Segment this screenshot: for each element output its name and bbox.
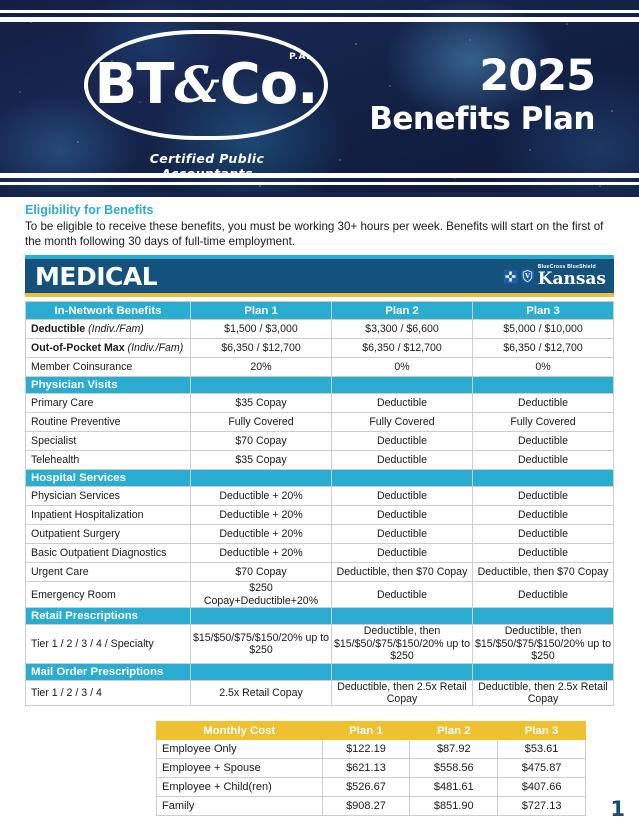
table-row: Inpatient HospitalizationDeductible + 20… (26, 506, 614, 525)
carrier-logo-text: BlueCross BlueShield Kansas (538, 265, 606, 287)
table-row: Employee + Spouse$621.13$558.56$475.87 (157, 759, 586, 778)
benefit-value-cell-plan-3: $6,350 / $12,700 (473, 339, 614, 358)
header-banner: BT&Co. P.A. Certified Public Accountants… (0, 0, 639, 197)
benefit-value-cell-plan-2: $6,350 / $12,700 (332, 339, 473, 358)
table-row: Out-of-Pocket Max (Indiv./Fam)$6,350 / $… (26, 339, 614, 358)
benefit-label-cell: Telehealth (26, 451, 191, 470)
cost-label-cell: Family (157, 797, 323, 816)
table-row: Employee Only$122.19$87.92$53.61 (157, 740, 586, 759)
cost-value-cell-plan-1: $122.19 (322, 740, 410, 759)
benefit-value-cell-plan-1: $6,350 / $12,700 (191, 339, 332, 358)
benefit-value-cell-plan-3: Deductible (473, 544, 614, 563)
eligibility-text: To be eligible to receive these benefits… (25, 219, 614, 250)
table-row: Emergency Room$250 Copay+Deductible+20%D… (26, 582, 614, 608)
benefits-group-row: Hospital Services (26, 470, 614, 487)
benefit-label-cell: Routine Preventive (26, 413, 191, 432)
table-row: Routine PreventiveFully CoveredFully Cov… (26, 413, 614, 432)
blue-shield-icon: V (521, 268, 534, 284)
benefit-value-cell-plan-2: Fully Covered (332, 413, 473, 432)
benefit-value-cell-plan-2: Deductible (332, 506, 473, 525)
blue-cross-icon (503, 269, 518, 284)
mc-col-header-plan-2: Plan 2 (410, 722, 498, 740)
table-row: Basic Outpatient DiagnosticsDeductible +… (26, 544, 614, 563)
benefit-value-cell-plan-3: Deductible (473, 487, 614, 506)
svg-text:V: V (524, 272, 531, 280)
benefit-value-cell-plan-3: Deductible (473, 525, 614, 544)
benefit-value-cell-plan-1: $35 Copay (191, 394, 332, 413)
cost-value-cell-plan-3: $475.87 (498, 759, 586, 778)
logo-wordmark: BT&Co. (84, 30, 328, 140)
benefit-value-cell-plan-1: 20% (191, 358, 332, 377)
cost-value-cell-plan-1: $621.13 (322, 759, 410, 778)
benefit-label-cell: Inpatient Hospitalization (26, 506, 191, 525)
benefit-value-cell-plan-1: Fully Covered (191, 413, 332, 432)
benefit-value-cell-plan-3: Deductible (473, 582, 614, 608)
logo-bt: BT (95, 57, 174, 113)
benefit-label-cell: Urgent Care (26, 563, 191, 582)
benefit-label-cell: Specialist (26, 432, 191, 451)
benefit-label-cell: Tier 1 / 2 / 3 / 4 / Specialty (26, 625, 191, 664)
page-number: 1 (610, 797, 625, 821)
cost-label-cell: Employee + Spouse (157, 759, 323, 778)
banner-stripe-bottom-2 (0, 182, 639, 185)
benefit-label-cell: Member Coinsurance (26, 358, 191, 377)
benefits-group-blank-cell (473, 663, 614, 680)
benefit-label-cell: Outpatient Surgery (26, 525, 191, 544)
benefits-group-blank-cell (191, 470, 332, 487)
benefits-group-blank-cell (191, 663, 332, 680)
benefits-group-row: Retail Prescriptions (26, 608, 614, 625)
benefit-value-cell-plan-1: Deductible + 20% (191, 525, 332, 544)
cost-value-cell-plan-1: $908.27 (322, 797, 410, 816)
cost-value-cell-plan-2: $481.61 (410, 778, 498, 797)
col-header-benefits: In-Network Benefits (26, 302, 191, 320)
benefits-group-label: Retail Prescriptions (26, 608, 191, 625)
benefit-value-cell-plan-1: Deductible + 20% (191, 544, 332, 563)
section-title: MEDICAL (35, 262, 157, 291)
cost-label-cell: Employee Only (157, 740, 323, 759)
eligibility-heading: Eligibility for Benefits (25, 203, 614, 217)
table-row: Primary Care$35 CopayDeductibleDeductibl… (26, 394, 614, 413)
cost-value-cell-plan-3: $727.13 (498, 797, 586, 816)
table-row: Urgent Care$70 CopayDeductible, then $70… (26, 563, 614, 582)
benefit-label-cell: Out-of-Pocket Max (Indiv./Fam) (26, 339, 191, 358)
col-header-plan-2: Plan 2 (332, 302, 473, 320)
company-logo: BT&Co. P.A. (84, 30, 328, 140)
benefit-value-cell-plan-3: Deductible, then 2.5x Retail Copay (473, 680, 614, 705)
cost-label-cell: Employee + Child(ren) (157, 778, 323, 797)
cost-value-cell-plan-2: $87.92 (410, 740, 498, 759)
cost-value-cell-plan-2: $851.90 (410, 797, 498, 816)
mc-col-header-label: Monthly Cost (157, 722, 323, 740)
company-tagline: Certified Public Accountants (112, 151, 302, 181)
benefit-value-cell-plan-2: Deductible (332, 525, 473, 544)
mc-col-header-plan-3: Plan 3 (498, 722, 586, 740)
benefits-group-row: Physician Visits (26, 377, 614, 394)
benefit-value-cell-plan-2: Deductible (332, 487, 473, 506)
mc-col-header-plan-1: Plan 1 (322, 722, 410, 740)
col-header-plan-3: Plan 3 (473, 302, 614, 320)
benefits-group-blank-cell (473, 377, 614, 394)
table-row: Member Coinsurance20%0%0% (26, 358, 614, 377)
monthly-cost-table-body: Employee Only$122.19$87.92$53.61Employee… (157, 740, 586, 816)
benefit-label-cell: Deductible (Indiv./Fam) (26, 320, 191, 339)
benefit-value-cell-plan-2: Deductible (332, 451, 473, 470)
table-row: Family$908.27$851.90$727.13 (157, 797, 586, 816)
banner-stripe-top-2 (0, 17, 639, 22)
benefit-value-cell-plan-3: Deductible (473, 394, 614, 413)
benefit-value-cell-plan-2: Deductible (332, 582, 473, 608)
benefit-label-cell: Emergency Room (26, 582, 191, 608)
benefits-group-blank-cell (191, 608, 332, 625)
carrier-logo-marks: V (503, 268, 534, 284)
benefits-group-label: Physician Visits (26, 377, 191, 394)
logo-co: Co. (220, 57, 318, 113)
benefits-group-blank-cell (332, 470, 473, 487)
table-row: Outpatient SurgeryDeductible + 20%Deduct… (26, 525, 614, 544)
carrier-state-name: Kansas (538, 271, 606, 287)
benefits-plan-page: BT&Co. P.A. Certified Public Accountants… (0, 0, 639, 829)
eligibility-block: Eligibility for Benefits To be eligible … (25, 203, 614, 250)
benefit-value-cell-plan-1: $250 Copay+Deductible+20% (191, 582, 332, 608)
benefit-value-cell-plan-1: Deductible + 20% (191, 506, 332, 525)
benefits-group-blank-cell (191, 377, 332, 394)
table-row: Physician ServicesDeductible + 20%Deduct… (26, 487, 614, 506)
medical-benefits-table: In-Network Benefits Plan 1 Plan 2 Plan 3… (25, 301, 614, 706)
benefit-value-cell-plan-3: $5,000 / $10,000 (473, 320, 614, 339)
benefits-group-label: Mail Order Prescriptions (26, 663, 191, 680)
benefit-value-cell-plan-3: Deductible (473, 451, 614, 470)
carrier-logo: V BlueCross BlueShield Kansas (503, 265, 606, 287)
logo-ampersand: & (173, 60, 219, 110)
section-bottom-accent-bar (25, 293, 614, 297)
benefits-group-blank-cell (332, 608, 473, 625)
table-row: Deductible (Indiv./Fam)$1,500 / $3,000$3… (26, 320, 614, 339)
benefit-value-cell-plan-2: Deductible, then $70 Copay (332, 563, 473, 582)
banner-stripe-bottom-1 (0, 173, 639, 178)
benefit-value-cell-plan-3: 0% (473, 358, 614, 377)
benefit-value-cell-plan-1: 2.5x Retail Copay (191, 680, 332, 705)
benefit-value-cell-plan-3: Deductible, then $15/$50/$75/$150/20% up… (473, 625, 614, 664)
monthly-cost-table: Monthly Cost Plan 1 Plan 2 Plan 3 Employ… (156, 721, 586, 816)
cost-value-cell-plan-3: $407.66 (498, 778, 586, 797)
benefit-value-cell-plan-2: 0% (332, 358, 473, 377)
benefit-value-cell-plan-3: Deductible, then $70 Copay (473, 563, 614, 582)
benefits-table-header-row: In-Network Benefits Plan 1 Plan 2 Plan 3 (26, 302, 614, 320)
section-title-bar: MEDICAL V BlueCross BlueShield (25, 259, 614, 293)
monthly-cost-header-row: Monthly Cost Plan 1 Plan 2 Plan 3 (157, 722, 586, 740)
benefit-value-cell-plan-2: Deductible (332, 432, 473, 451)
cost-value-cell-plan-2: $558.56 (410, 759, 498, 778)
medical-section-header: MEDICAL V BlueCross BlueShield (25, 255, 614, 297)
benefit-value-cell-plan-1: $35 Copay (191, 451, 332, 470)
benefit-value-cell-plan-1: $70 Copay (191, 432, 332, 451)
benefit-value-cell-plan-3: Deductible (473, 432, 614, 451)
benefit-value-cell-plan-1: $70 Copay (191, 563, 332, 582)
benefits-group-blank-cell (332, 377, 473, 394)
benefits-group-blank-cell (473, 608, 614, 625)
benefits-table-body: Deductible (Indiv./Fam)$1,500 / $3,000$3… (26, 320, 614, 706)
table-row: Tier 1 / 2 / 3 / 4 / Specialty$15/$50/$7… (26, 625, 614, 664)
cost-value-cell-plan-1: $526.67 (322, 778, 410, 797)
benefit-label-cell: Primary Care (26, 394, 191, 413)
benefit-value-cell-plan-3: Fully Covered (473, 413, 614, 432)
banner-plan-title: Benefits Plan (369, 104, 595, 135)
benefit-value-cell-plan-2: $3,300 / $6,600 (332, 320, 473, 339)
benefit-value-cell-plan-3: Deductible (473, 506, 614, 525)
table-row: Telehealth$35 CopayDeductibleDeductible (26, 451, 614, 470)
benefit-value-cell-plan-2: Deductible, then $15/$50/$75/$150/20% up… (332, 625, 473, 664)
plan-year: 2025 (479, 55, 595, 98)
banner-base-bar (0, 192, 639, 197)
table-row: Specialist$70 CopayDeductibleDeductible (26, 432, 614, 451)
benefit-value-cell-plan-1: Deductible + 20% (191, 487, 332, 506)
table-row: Tier 1 / 2 / 3 / 42.5x Retail CopayDeduc… (26, 680, 614, 705)
benefits-group-blank-cell (473, 470, 614, 487)
col-header-plan-1: Plan 1 (191, 302, 332, 320)
benefit-label-cell: Tier 1 / 2 / 3 / 4 (26, 680, 191, 705)
benefit-label-cell: Physician Services (26, 487, 191, 506)
benefits-group-label: Hospital Services (26, 470, 191, 487)
benefit-value-cell-plan-1: $1,500 / $3,000 (191, 320, 332, 339)
benefit-value-cell-plan-2: Deductible (332, 394, 473, 413)
benefit-value-cell-plan-1: $15/$50/$75/$150/20% up to $250 (191, 625, 332, 664)
banner-stripe-top-1 (0, 10, 639, 13)
logo-pa-suffix: P.A. (289, 52, 310, 62)
benefit-value-cell-plan-2: Deductible (332, 544, 473, 563)
benefit-label-cell: Basic Outpatient Diagnostics (26, 544, 191, 563)
benefits-group-blank-cell (332, 663, 473, 680)
table-row: Employee + Child(ren)$526.67$481.61$407.… (157, 778, 586, 797)
benefits-group-row: Mail Order Prescriptions (26, 663, 614, 680)
cost-value-cell-plan-3: $53.61 (498, 740, 586, 759)
benefit-value-cell-plan-2: Deductible, then 2.5x Retail Copay (332, 680, 473, 705)
